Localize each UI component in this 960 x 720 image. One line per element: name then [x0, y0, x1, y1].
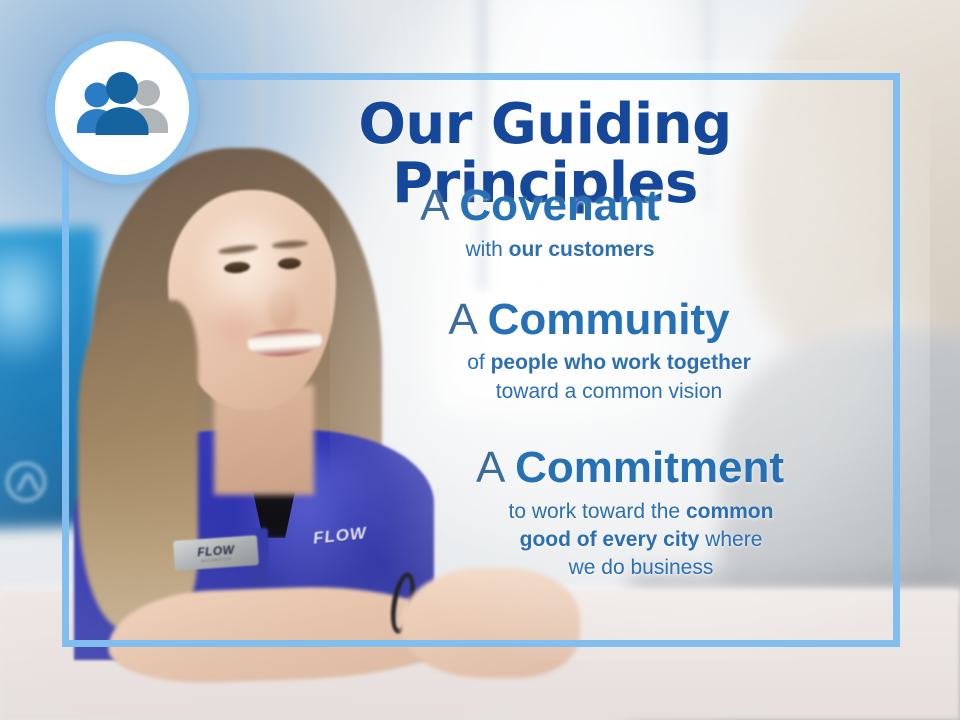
principle-lead: A	[476, 443, 515, 492]
subtitle-line: toward a common vision	[340, 378, 878, 406]
subtitle-part: with	[465, 238, 508, 261]
principle-commitment: A Commitment to work toward the common g…	[300, 444, 900, 583]
principle-subtitle: to work toward the common good of every …	[360, 498, 900, 583]
people-badge	[46, 32, 198, 184]
principle-keyword: Community	[488, 295, 730, 344]
spacer	[300, 428, 900, 444]
principle-covenant: A Covenant with our customers	[300, 182, 900, 264]
subtitle-part: of	[467, 351, 490, 374]
subtitle-line: of people who work together	[340, 349, 878, 377]
principle-keyword: Commitment	[515, 443, 784, 492]
subtitle-part-bold: common	[686, 500, 774, 523]
principles-list: A Covenant with our customers A Communit…	[300, 182, 900, 605]
principle-title: A Commitment	[360, 444, 900, 492]
principle-subtitle: of people who work together toward a com…	[300, 349, 878, 406]
principle-community: A Community of people who work together …	[300, 296, 900, 406]
subtitle-line: we do business	[382, 554, 900, 582]
subtitle-part: to work toward the	[509, 500, 686, 523]
subtitle-line: to work toward the common	[382, 498, 900, 526]
principle-title: A Covenant	[300, 182, 780, 230]
principle-subtitle: with our customers	[300, 236, 780, 264]
people-group-icon	[70, 71, 174, 145]
subtitle-part-bold: good of every city	[520, 528, 700, 551]
principle-keyword: Covenant	[459, 181, 659, 230]
subtitle-part-bold: our customers	[509, 238, 655, 261]
principle-title: A Community	[300, 296, 878, 344]
guiding-principles-graphic: FLOW AUTOMOTIVE FLOW Our Guiding Princip…	[0, 0, 960, 720]
subtitle-line: good of every city where	[382, 526, 900, 554]
subtitle-part: where	[699, 528, 762, 551]
subtitle-part-bold: people who work together	[491, 351, 751, 374]
principle-lead: A	[420, 181, 459, 230]
principle-lead: A	[448, 295, 487, 344]
